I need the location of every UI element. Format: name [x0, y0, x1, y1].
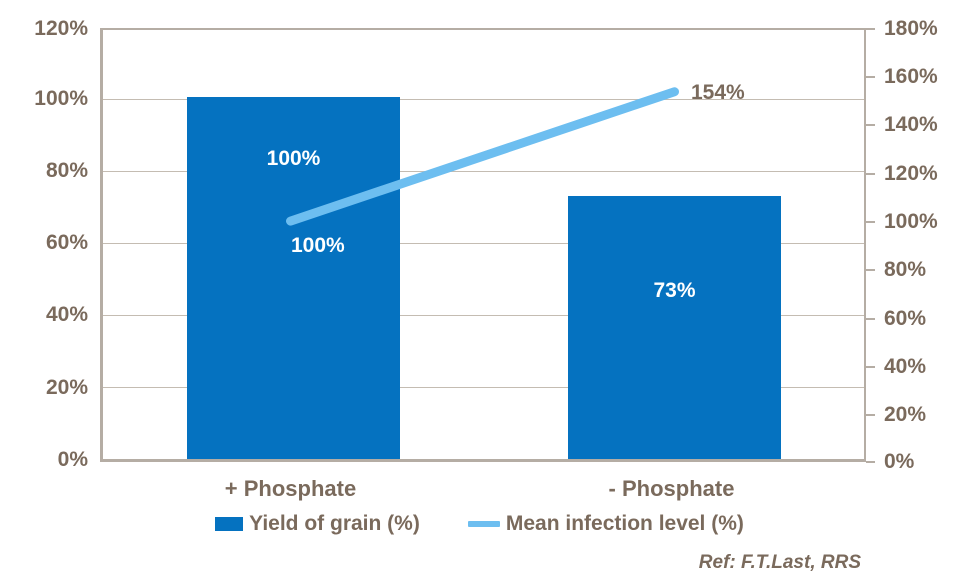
right-axis-tick-100: 100% — [884, 211, 938, 232]
left-axis-tick-40: 40% — [46, 304, 88, 325]
right-axis-tickmark-20 — [866, 414, 875, 416]
right-axis-tickmark-80 — [866, 269, 875, 271]
legend-line-swatch-icon — [468, 521, 500, 527]
left-axis-tick-0: 0% — [58, 449, 88, 470]
legend-label-mean-infection-level: Mean infection level (%) — [506, 513, 744, 534]
line-label-minus-phosphate: 154% — [691, 82, 745, 103]
right-axis-tickmark-180 — [866, 28, 875, 30]
right-axis-tickmark-60 — [866, 318, 875, 320]
right-axis-tickmark-100 — [866, 221, 875, 223]
legend-item-yield-of-grain[interactable]: Yield of grain (%) — [215, 513, 420, 534]
right-axis-tick-160: 160% — [884, 66, 938, 87]
right-axis-tickmark-140 — [866, 124, 875, 126]
source-reference-note: Ref: F.T.Last, RRS — [699, 553, 861, 572]
right-axis-tickmark-160 — [866, 76, 875, 78]
right-axis-tick-0: 0% — [884, 451, 914, 472]
category-label-plus-phosphate: + Phosphate — [184, 478, 397, 500]
right-axis-tick-60: 60% — [884, 308, 926, 329]
right-axis-tickmark-0 — [866, 461, 875, 463]
right-axis-tickmark-120 — [866, 173, 875, 175]
right-axis-tick-140: 140% — [884, 114, 938, 135]
right-axis: 180% 160% 140% 120% 100% 80% 60% 40% 20%… — [884, 0, 959, 580]
legend-label-yield-of-grain: Yield of grain (%) — [249, 513, 420, 534]
right-axis-tick-180: 180% — [884, 18, 938, 39]
right-axis-tick-80: 80% — [884, 259, 926, 280]
right-axis-tick-120: 120% — [884, 163, 938, 184]
plot-area: 100% 73% 100% 154% — [100, 28, 866, 462]
right-axis-tick-20: 20% — [884, 404, 926, 425]
legend-item-mean-infection-level[interactable]: Mean infection level (%) — [468, 513, 744, 534]
category-label-minus-phosphate: - Phosphate — [565, 478, 778, 500]
left-axis-tick-20: 20% — [46, 377, 88, 398]
bar-label-minus-phosphate: 73% — [568, 280, 781, 301]
bar-yield-minus-phosphate[interactable] — [568, 196, 781, 459]
left-axis: 120% 100% 80% 60% 40% 20% 0% — [0, 0, 88, 580]
left-axis-tick-120: 120% — [34, 18, 88, 39]
left-axis-tick-80: 80% — [46, 160, 88, 181]
left-axis-tick-60: 60% — [46, 232, 88, 253]
right-axis-tick-40: 40% — [884, 356, 926, 377]
left-axis-tick-100: 100% — [34, 88, 88, 109]
legend: Yield of grain (%) Mean infection level … — [0, 513, 959, 534]
line-label-plus-phosphate: 100% — [291, 235, 345, 256]
right-axis-tickmark-40 — [866, 366, 875, 368]
legend-bar-swatch-icon — [215, 517, 243, 531]
bar-label-plus-phosphate: 100% — [187, 148, 400, 169]
chart-container: 120% 100% 80% 60% 40% 20% 0% 180% 160% 1… — [0, 0, 959, 580]
